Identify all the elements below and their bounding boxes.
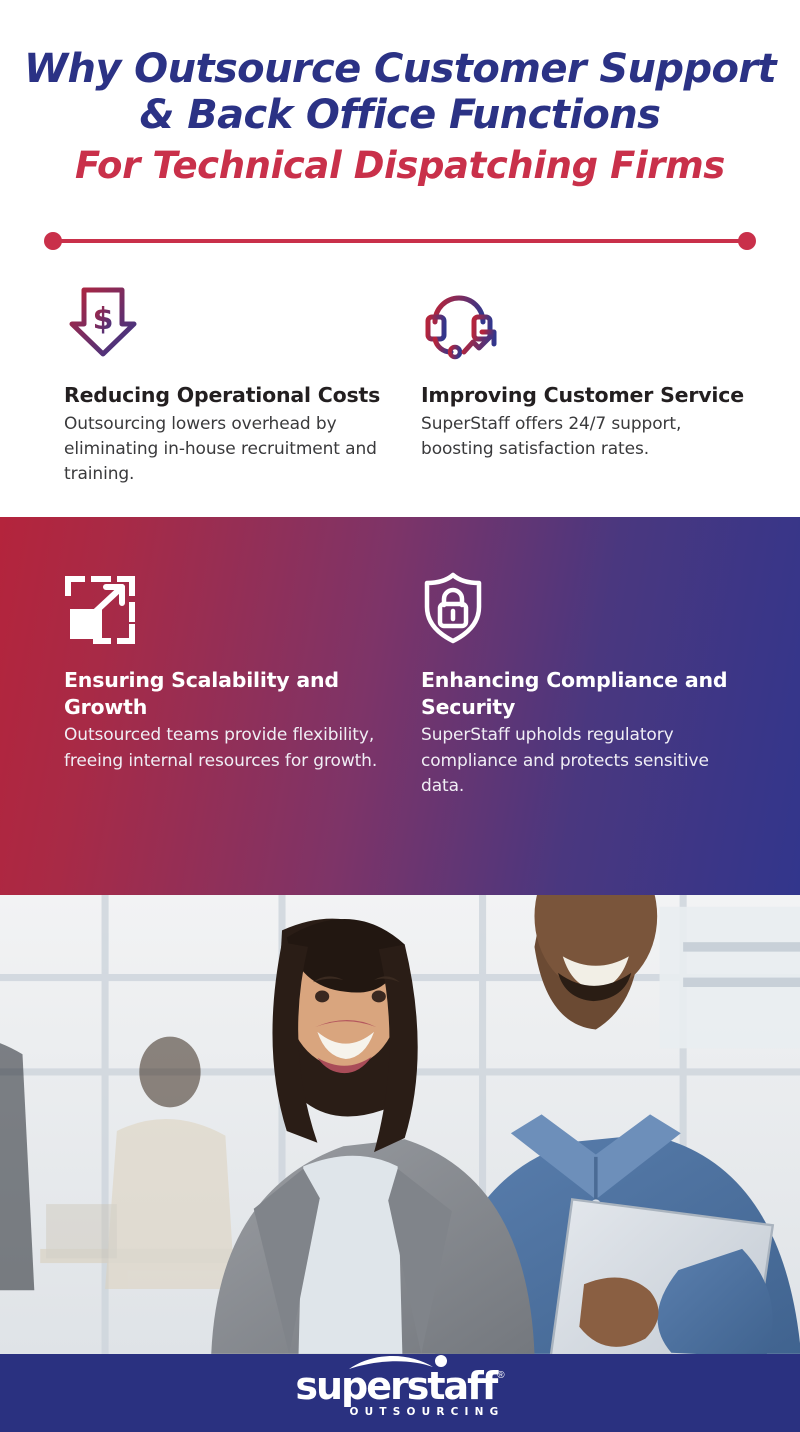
divider-dot-right [738, 232, 756, 250]
benefit-title: Reducing Operational Costs [64, 382, 391, 409]
divider [44, 232, 756, 250]
benefit-title: Improving Customer Service [421, 382, 748, 409]
benefit-title: Enhancing Compliance and Security [421, 667, 748, 720]
benefits-grid-gradient: Ensuring Scalability and Growth Outsourc… [0, 569, 800, 799]
benefit-card-ensuring-scalability-and-growth: Ensuring Scalability and Growth Outsourc… [64, 569, 391, 799]
hero-photo [0, 895, 800, 1354]
benefit-card-reducing-operational-costs: $ Reducing Operational Costs Outsourcing… [64, 284, 391, 487]
benefits-section-light: $ Reducing Operational Costs Outsourcing… [0, 250, 800, 517]
superstaff-logo[interactable]: superstaff ® OUTSOURCING [295, 1368, 504, 1417]
office-scene-illustration [0, 895, 800, 1354]
logo-wordmark-row: superstaff ® [295, 1368, 504, 1404]
header: Why Outsource Customer Support & Back Of… [0, 0, 800, 190]
benefits-section-gradient: Ensuring Scalability and Growth Outsourc… [0, 517, 800, 895]
benefit-body: SuperStaff upholds regulatory compliance… [421, 723, 748, 798]
footer: superstaff ® OUTSOURCING [0, 1354, 800, 1432]
benefit-body: Outsourced teams provide flexibility, fr… [64, 723, 391, 773]
svg-text:$: $ [93, 302, 114, 337]
benefit-body: SuperStaff offers 24/7 support, boosting… [421, 412, 748, 462]
page-title-line-1: Why Outsource Customer Support [20, 46, 780, 92]
benefit-title: Ensuring Scalability and Growth [64, 667, 391, 720]
infographic-root: Why Outsource Customer Support & Back Of… [0, 0, 800, 1432]
benefit-card-enhancing-compliance-and-security: Enhancing Compliance and Security SuperS… [421, 569, 748, 799]
page-subtitle: For Technical Dispatching Firms [20, 142, 780, 190]
shield-lock-icon [421, 569, 748, 645]
dollar-down-arrow-icon: $ [64, 284, 391, 360]
benefits-grid-light: $ Reducing Operational Costs Outsourcing… [0, 284, 800, 487]
headset-growth-icon [421, 284, 748, 360]
scale-expand-icon [64, 569, 391, 645]
swoosh-icon [349, 1355, 453, 1377]
benefit-body: Outsourcing lowers overhead by eliminati… [64, 412, 391, 487]
benefit-card-improving-customer-service: Improving Customer Service SuperStaff of… [421, 284, 748, 487]
logo-registered-mark: ® [497, 1370, 504, 1381]
page-title-line-2: & Back Office Functions [20, 92, 780, 138]
divider-line [53, 239, 747, 243]
